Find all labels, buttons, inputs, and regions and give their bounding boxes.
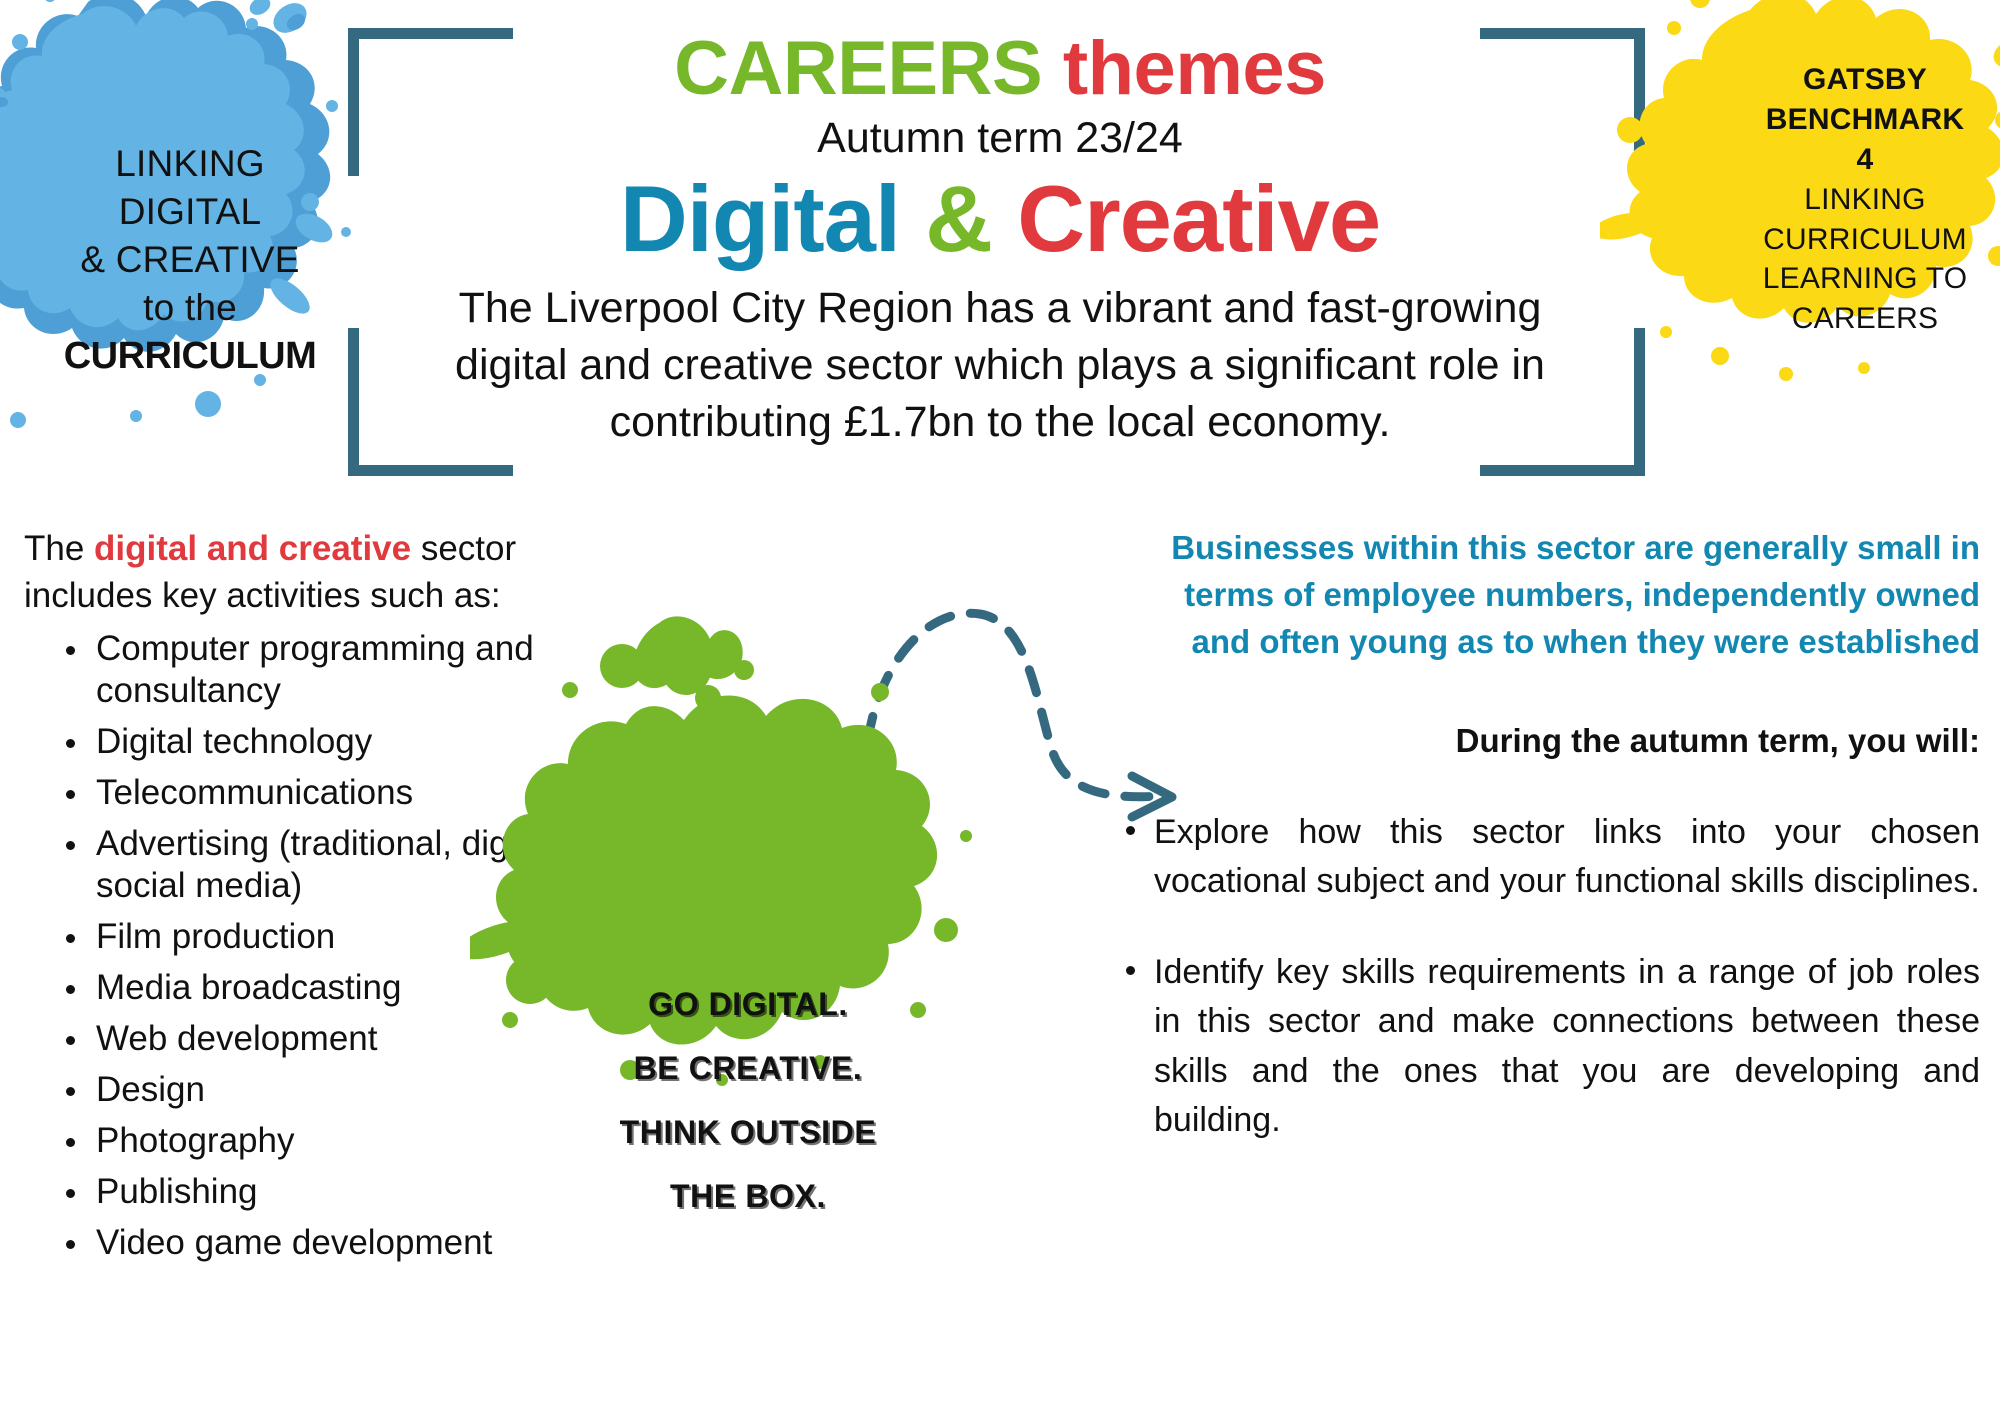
green-paint-splat-icon	[470, 600, 990, 1100]
term-heading: During the autumn term, you will:	[1120, 722, 1980, 760]
theme-title-ampersand: &	[925, 166, 992, 271]
theme-title: Digital & Creative	[370, 167, 1630, 270]
intro-paragraph: The Liverpool City Region has a vibrant …	[405, 280, 1595, 452]
business-callout: Businesses within this sector are genera…	[1120, 525, 1980, 666]
list-item: Explore how this sector links into your …	[1120, 808, 1980, 907]
term-outcomes-column: Businesses within this sector are genera…	[1120, 525, 1980, 1187]
green-splat-line-4: THE BOX.	[598, 1164, 898, 1228]
page-title-themes: themes	[1063, 26, 1326, 111]
list-item: Photography	[58, 1120, 624, 1162]
page-title: CAREERS themes	[370, 30, 1630, 108]
yellow-paint-splat-icon	[1600, 0, 2000, 390]
term-outcomes-list: Explore how this sector links into your …	[1120, 808, 1980, 1146]
green-splat-line-3: THINK OUTSIDE	[598, 1100, 898, 1164]
activities-intro-highlight: digital and creative	[94, 529, 411, 568]
careers-themes-poster: LINKING DIGITAL & CREATIVE to the CURRIC…	[0, 0, 2000, 1414]
theme-title-creative: Creative	[1017, 166, 1380, 271]
activities-intro-before: The	[24, 529, 94, 568]
list-item: Video game development	[58, 1222, 624, 1264]
poster-header: CAREERS themes Autumn term 23/24 Digital…	[370, 30, 1630, 451]
list-item: Identify key skills requirements in a ra…	[1120, 948, 1980, 1145]
theme-title-digital: Digital	[620, 166, 900, 271]
page-title-careers: CAREERS	[674, 26, 1042, 111]
page-subtitle: Autumn term 23/24	[370, 114, 1630, 163]
list-item: Publishing	[58, 1171, 624, 1213]
blue-paint-splat-icon	[0, 0, 380, 450]
